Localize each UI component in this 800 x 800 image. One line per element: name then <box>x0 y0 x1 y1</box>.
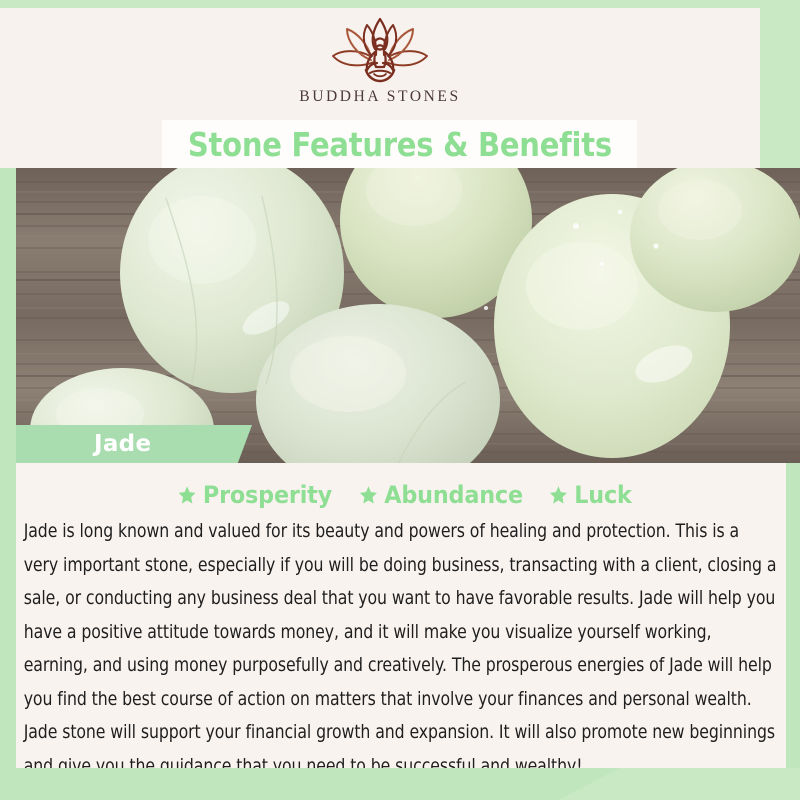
benefit-prosperity: Prosperity <box>177 481 331 509</box>
benefits-row: Prosperity Abundance Luck <box>28 479 778 511</box>
brand-logo: BUDDHA STONES <box>0 14 760 106</box>
benefit-label: Luck <box>574 481 631 509</box>
stone-name: Jade <box>94 431 151 457</box>
jade-stones-illustration <box>16 168 800 463</box>
brand-name: BUDDHA STONES <box>299 88 460 106</box>
benefit-abundance: Abundance <box>360 481 524 509</box>
star-icon <box>360 485 379 505</box>
infographic-card: BUDDHA STONES Stone Features & Benefits <box>0 0 800 800</box>
benefit-label: Prosperity <box>203 481 332 509</box>
benefit-label: Abundance <box>385 481 524 509</box>
body-content: Prosperity Abundance Luck Jade is long k… <box>16 463 786 768</box>
left-green-strip <box>0 168 16 768</box>
lotus-meditation-icon <box>322 14 438 84</box>
star-icon <box>549 485 568 505</box>
page-title: Stone Features & Benefits <box>188 128 612 161</box>
stone-photo <box>16 168 800 463</box>
star-icon <box>177 485 196 505</box>
benefit-luck: Luck <box>549 481 632 509</box>
bottom-green-bar <box>0 768 620 800</box>
title-banner: Stone Features & Benefits <box>162 120 637 168</box>
stone-name-banner: Jade <box>16 425 252 463</box>
stone-description: Jade is long known and valued for its be… <box>22 515 778 783</box>
